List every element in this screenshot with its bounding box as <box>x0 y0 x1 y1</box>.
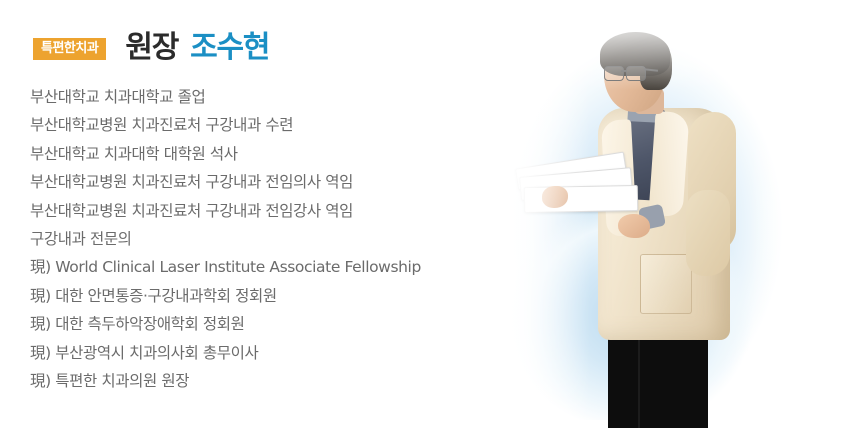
credential-item: 부산대학교병원 치과진료처 구강내과 전임의사 역임 <box>30 168 500 196</box>
credential-item: 구강내과 전문의 <box>30 225 500 253</box>
credential-item: 現) 부산광역시 치과의사회 총무이사 <box>30 339 500 367</box>
doctor-photo <box>500 0 846 428</box>
credential-item: 現) 특편한 치과의원 원장 <box>30 367 500 395</box>
page-title: 원장조수현 <box>125 33 269 63</box>
clinic-badge: 특편한치과 <box>33 38 106 60</box>
figure-coat-pocket <box>640 254 692 314</box>
doctor-role: 원장 <box>125 30 178 65</box>
credential-item: 부산대학교 치과대학 대학원 석사 <box>30 140 500 168</box>
figure-right-arm <box>686 190 730 276</box>
credentials-list: 부산대학교 치과대학교 졸업 부산대학교병원 치과진료처 구강내과 수련 부산대… <box>30 83 500 395</box>
figure-trousers <box>608 328 708 428</box>
credential-item: 부산대학교 치과대학교 졸업 <box>30 83 500 111</box>
credential-item: 現) 대한 안면통증·구강내과학회 정회원 <box>30 282 500 310</box>
credential-item: 부산대학교병원 치과진료처 구강내과 전임강사 역임 <box>30 197 500 225</box>
profile-header: 특편한치과 원장조수현 <box>33 28 269 68</box>
credential-item: 부산대학교병원 치과진료처 구강내과 수련 <box>30 111 500 139</box>
profile-page: 특편한치과 원장조수현 부산대학교 치과대학교 졸업 부산대학교병원 치과진료처… <box>0 0 846 428</box>
credential-item: 現) World Clinical Laser Institute Associ… <box>30 253 500 281</box>
photo-fade-right <box>726 0 846 428</box>
photo-fade-left <box>500 0 620 428</box>
figure-right-hand <box>618 214 650 238</box>
credential-item: 現) 대한 측두하악장애학회 정회원 <box>30 310 500 338</box>
figure-right-lapel <box>648 111 689 217</box>
figure-trouser-crease <box>638 330 640 428</box>
doctor-name: 조수현 <box>190 30 269 65</box>
